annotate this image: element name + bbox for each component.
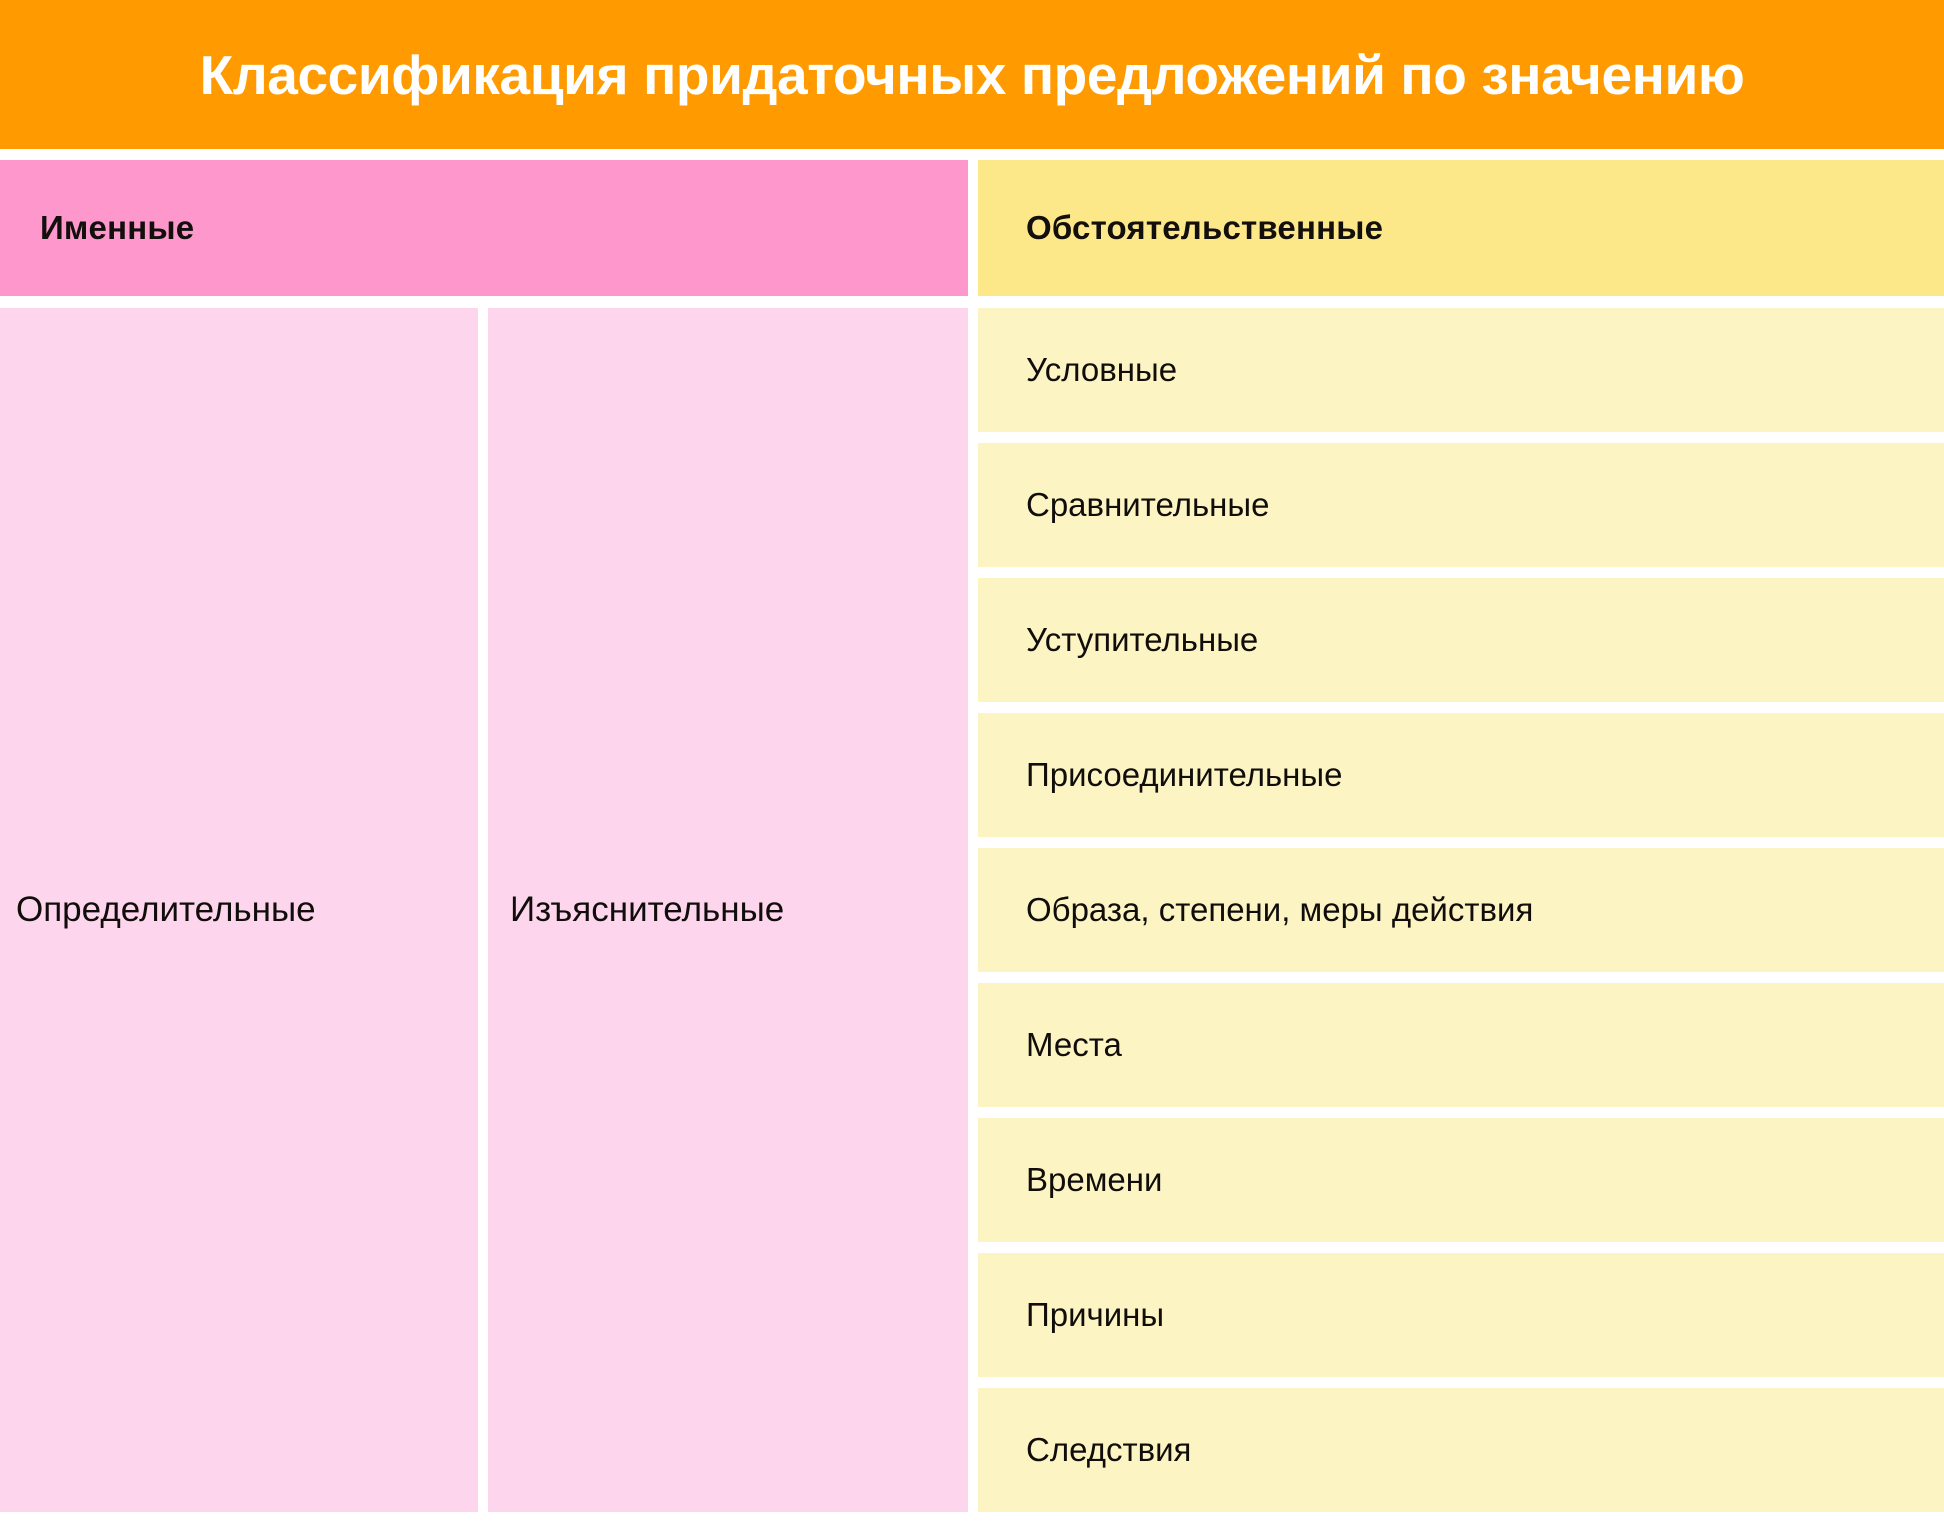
nominal-subtypes: Определительные Изъяснительные (0, 308, 968, 1512)
nominal-item-0: Определительные (0, 308, 478, 1512)
adverbial-item-2-label: Уступительные (1026, 621, 1258, 659)
title-bar: Классификация придаточных предложений по… (0, 0, 1944, 149)
adverbial-item-0: Условные (978, 308, 1944, 432)
adverbial-item-7-label: Причины (1026, 1296, 1164, 1334)
classification-infographic: Классификация придаточных предложений по… (0, 0, 1944, 1512)
column-adverbial: Обстоятельственные Условные Сравнительны… (978, 160, 1944, 1512)
adverbial-item-4: Образа, степени, меры действия (978, 848, 1944, 972)
adverbial-item-3: Присоединительные (978, 713, 1944, 837)
page-title: Классификация придаточных предложений по… (200, 43, 1745, 107)
group-header-nominal: Именные (0, 160, 968, 296)
adverbial-item-8-label: Следствия (1026, 1431, 1191, 1469)
adverbial-item-7: Причины (978, 1253, 1944, 1377)
adverbial-item-0-label: Условные (1026, 351, 1177, 389)
group-header-nominal-label: Именные (40, 209, 194, 247)
group-header-adverbial-label: Обстоятельственные (1026, 209, 1383, 247)
classification-columns: Именные Определительные Изъяснительные О… (0, 160, 1944, 1512)
adverbial-item-2: Уступительные (978, 578, 1944, 702)
adverbial-item-5: Места (978, 983, 1944, 1107)
adverbial-item-6-label: Времени (1026, 1161, 1162, 1199)
adverbial-subtypes: Условные Сравнительные Уступительные При… (978, 308, 1944, 1523)
adverbial-item-3-label: Присоединительные (1026, 756, 1342, 794)
adverbial-item-4-label: Образа, степени, меры действия (1026, 891, 1533, 929)
nominal-item-1-label: Изъяснительные (510, 890, 784, 930)
adverbial-item-6: Времени (978, 1118, 1944, 1242)
adverbial-item-1: Сравнительные (978, 443, 1944, 567)
adverbial-item-1-label: Сравнительные (1026, 486, 1269, 524)
adverbial-item-8: Следствия (978, 1388, 1944, 1512)
group-header-adverbial: Обстоятельственные (978, 160, 1944, 296)
adverbial-item-5-label: Места (1026, 1026, 1122, 1064)
nominal-item-1: Изъяснительные (488, 308, 968, 1512)
nominal-item-0-label: Определительные (16, 890, 316, 930)
column-nominal: Именные Определительные Изъяснительные (0, 160, 968, 1512)
